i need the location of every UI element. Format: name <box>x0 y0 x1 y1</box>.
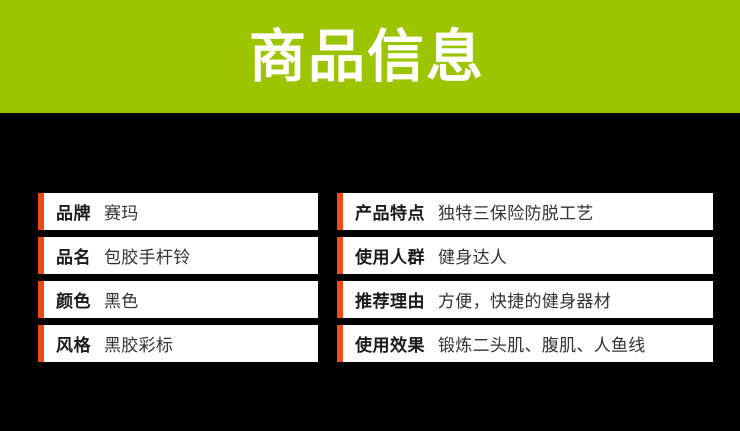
spec-value: 黑色 <box>104 287 139 312</box>
spec-value: 健身达人 <box>438 243 507 268</box>
spec-label: 使用效果 <box>355 331 425 356</box>
spec-label: 推荐理由 <box>355 287 425 312</box>
spec-row: 颜色 黑色 <box>38 281 318 318</box>
spec-row: 推荐理由 方便，快捷的健身器材 <box>337 281 713 318</box>
spec-row: 品牌 赛玛 <box>38 193 318 230</box>
specification-section: 品牌 赛玛 品名 包胶手杆铃 颜色 黑色 <box>0 113 740 431</box>
spec-row-content: 颜色 黑色 <box>44 281 318 318</box>
page-header-banner: 商品信息 <box>0 0 740 113</box>
spec-value: 赛玛 <box>104 199 139 224</box>
spec-row-content: 品牌 赛玛 <box>44 193 318 230</box>
spec-value: 方便，快捷的健身器材 <box>438 287 611 312</box>
spec-label: 品牌 <box>56 199 91 224</box>
spec-label: 使用人群 <box>355 243 425 268</box>
page-title: 商品信息 <box>249 29 485 86</box>
spec-label: 产品特点 <box>355 199 425 224</box>
spec-row-content: 使用人群 健身达人 <box>343 237 713 274</box>
spec-value: 锻炼二头肌、腹肌、人鱼线 <box>438 331 646 356</box>
spec-column-left: 品牌 赛玛 品名 包胶手杆铃 颜色 黑色 <box>38 193 318 362</box>
spec-columns: 品牌 赛玛 品名 包胶手杆铃 颜色 黑色 <box>38 193 713 362</box>
spec-row-content: 产品特点 独特三保险防脱工艺 <box>343 193 713 230</box>
product-info-page: 商品信息 品牌 赛玛 品名 包胶手杆铃 <box>0 0 740 431</box>
spec-row: 产品特点 独特三保险防脱工艺 <box>337 193 713 230</box>
spec-row: 使用人群 健身达人 <box>337 237 713 274</box>
spec-row-content: 风格 黑胶彩标 <box>44 325 318 362</box>
spec-label: 风格 <box>56 331 91 356</box>
spec-row-content: 使用效果 锻炼二头肌、腹肌、人鱼线 <box>343 325 713 362</box>
spec-column-right: 产品特点 独特三保险防脱工艺 使用人群 健身达人 推荐理由 方便，快捷的 <box>337 193 713 362</box>
spec-row: 品名 包胶手杆铃 <box>38 237 318 274</box>
spec-row-content: 品名 包胶手杆铃 <box>44 237 318 274</box>
spec-row-content: 推荐理由 方便，快捷的健身器材 <box>343 281 713 318</box>
spec-label: 颜色 <box>56 287 91 312</box>
spec-row: 使用效果 锻炼二头肌、腹肌、人鱼线 <box>337 325 713 362</box>
spec-value: 包胶手杆铃 <box>104 243 191 268</box>
spec-value: 独特三保险防脱工艺 <box>438 199 594 224</box>
spec-label: 品名 <box>56 243 91 268</box>
spec-value: 黑胶彩标 <box>104 331 173 356</box>
spec-row: 风格 黑胶彩标 <box>38 325 318 362</box>
